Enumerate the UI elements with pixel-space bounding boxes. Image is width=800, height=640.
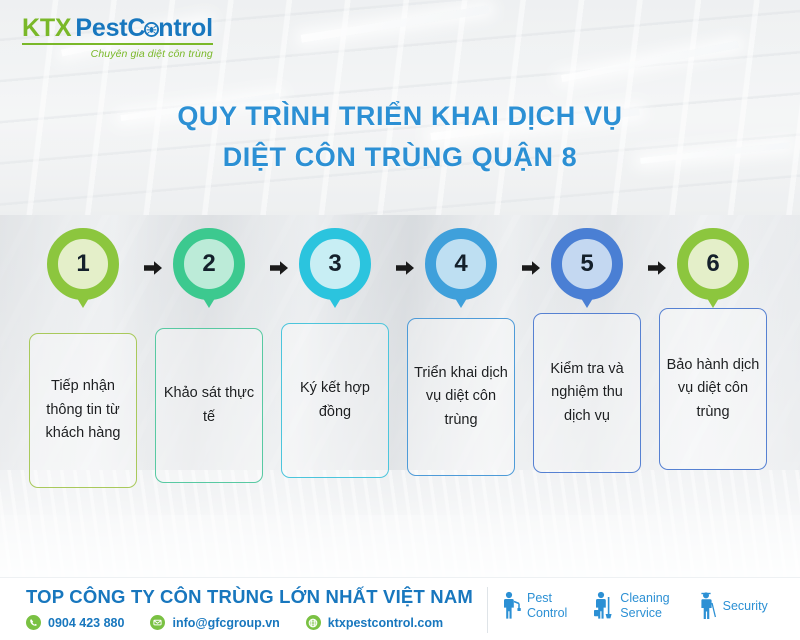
page-title: QUY TRÌNH TRIỂN KHAI DỊCH VỤ DIỆT CÔN TR… (0, 96, 800, 178)
service-security-label: Security (723, 599, 768, 614)
step-label-1: Tiếp nhận thông tin từ khách hàng (36, 375, 130, 445)
step-number-6: 6 (706, 252, 719, 276)
security-guard-icon (696, 591, 718, 621)
contact-list: 0904 423 880 info@gfcgroup.vn ktxpestcon… (26, 615, 473, 630)
infographic-canvas: KTXPestC ntrol Chuyên gia diệt côn trùng… (0, 0, 800, 640)
contact-phone-value: 0904 423 880 (48, 616, 124, 630)
service-pest-control[interactable]: PestControl (500, 591, 567, 621)
step-box-2[interactable]: Khảo sát thực tế (155, 328, 263, 483)
contact-website-value: ktxpestcontrol.com (328, 616, 443, 630)
logo-ktx-text: KTX (22, 14, 71, 42)
step-marker-2: 2 (152, 228, 266, 320)
step-marker-1: 1 (26, 228, 140, 320)
process-steps: 1 Tiếp nhận thông tin từ khách hàng 2 Kh… (0, 228, 800, 498)
step-box-3[interactable]: Ký kết hợp đồng (281, 323, 389, 478)
service-line-1: Security (723, 599, 768, 613)
service-line-1: Cleaning (620, 591, 669, 605)
title-line-1: QUY TRÌNH TRIỂN KHAI DỊCH VỤ (0, 96, 800, 137)
contact-email[interactable]: info@gfcgroup.vn (150, 615, 279, 630)
logo-tagline: Chuyên gia diệt côn trùng (22, 48, 213, 60)
envelope-icon (150, 615, 165, 630)
step-box-1[interactable]: Tiếp nhận thông tin từ khách hàng (29, 333, 137, 488)
service-line-2: Service (620, 606, 662, 620)
step-label-4: Triển khai dịch vụ diệt côn trùng (414, 362, 508, 432)
step-marker-6: 6 (656, 228, 770, 320)
logo-underline (22, 43, 213, 45)
logo-ntrol-text: ntrol (158, 14, 213, 42)
service-line-2: Control (527, 606, 567, 620)
service-pest-control-label: PestControl (527, 591, 567, 621)
step-number-2: 2 (202, 252, 215, 276)
process-step-3[interactable]: 3 Ký kết hợp đồng (278, 228, 392, 320)
footer-bar: TOP CÔNG TY CÔN TRÙNG LỚN NHẤT VIỆT NAM … (0, 577, 800, 640)
arrow-right-icon-2 (269, 258, 289, 278)
logo-wordmark: KTXPestC ntrol (22, 16, 213, 41)
pest-control-worker-icon (500, 591, 522, 621)
service-cleaning[interactable]: CleaningService (593, 591, 669, 621)
bug-icon (144, 17, 159, 32)
arrow-right-icon-1 (143, 258, 163, 278)
step-label-6: Bảo hành dịch vụ diệt côn trùng (666, 354, 760, 424)
service-security[interactable]: Security (696, 591, 768, 621)
contact-phone[interactable]: 0904 423 880 (26, 615, 124, 630)
globe-icon (306, 615, 321, 630)
process-step-6[interactable]: 6 Bảo hành dịch vụ diệt côn trùng (656, 228, 770, 320)
step-marker-5: 5 (530, 228, 644, 320)
step-number-4: 4 (454, 252, 467, 276)
pin-circle-4: 4 (425, 228, 497, 300)
process-step-5[interactable]: 5 Kiểm tra và nghiệm thu dịch vụ (530, 228, 644, 320)
service-cleaning-label: CleaningService (620, 591, 669, 621)
contact-website[interactable]: ktxpestcontrol.com (306, 615, 443, 630)
title-line-2: DIỆT CÔN TRÙNG QUẬN 8 (0, 137, 800, 178)
pin-circle-1: 1 (47, 228, 119, 300)
step-number-1: 1 (76, 252, 89, 276)
contact-email-value: info@gfcgroup.vn (172, 616, 279, 630)
step-label-5: Kiểm tra và nghiệm thu dịch vụ (540, 358, 634, 428)
arrow-right-icon-5 (647, 258, 667, 278)
pin-circle-2: 2 (173, 228, 245, 300)
step-box-4[interactable]: Triển khai dịch vụ diệt côn trùng (407, 318, 515, 476)
arrow-right-icon-3 (395, 258, 415, 278)
process-step-2[interactable]: 2 Khảo sát thực tế (152, 228, 266, 320)
pin-circle-6: 6 (677, 228, 749, 300)
step-box-6[interactable]: Bảo hành dịch vụ diệt côn trùng (659, 308, 767, 470)
brand-logo[interactable]: KTXPestC ntrol Chuyên gia diệt côn trùng (22, 16, 213, 60)
phone-icon (26, 615, 41, 630)
pin-circle-5: 5 (551, 228, 623, 300)
cleaning-worker-icon (593, 591, 615, 621)
service-line-1: Pest (527, 591, 552, 605)
arrow-right-icon-4 (521, 258, 541, 278)
step-marker-3: 3 (278, 228, 392, 320)
pin-circle-3: 3 (299, 228, 371, 300)
step-number-3: 3 (328, 252, 341, 276)
process-step-1[interactable]: 1 Tiếp nhận thông tin từ khách hàng (26, 228, 140, 320)
service-list: PestControl CleaningService (500, 591, 768, 621)
step-number-5: 5 (580, 252, 593, 276)
footer-headline: TOP CÔNG TY CÔN TRÙNG LỚN NHẤT VIỆT NAM (26, 586, 473, 608)
step-marker-4: 4 (404, 228, 518, 320)
logo-pest-text: PestC (75, 14, 145, 42)
step-label-3: Ký kết hợp đồng (288, 377, 382, 424)
process-step-4[interactable]: 4 Triển khai dịch vụ diệt côn trùng (404, 228, 518, 320)
footer-left-block: TOP CÔNG TY CÔN TRÙNG LỚN NHẤT VIỆT NAM … (26, 586, 473, 630)
step-label-2: Khảo sát thực tế (162, 382, 256, 429)
footer-divider (487, 587, 488, 633)
step-box-5[interactable]: Kiểm tra và nghiệm thu dịch vụ (533, 313, 641, 473)
